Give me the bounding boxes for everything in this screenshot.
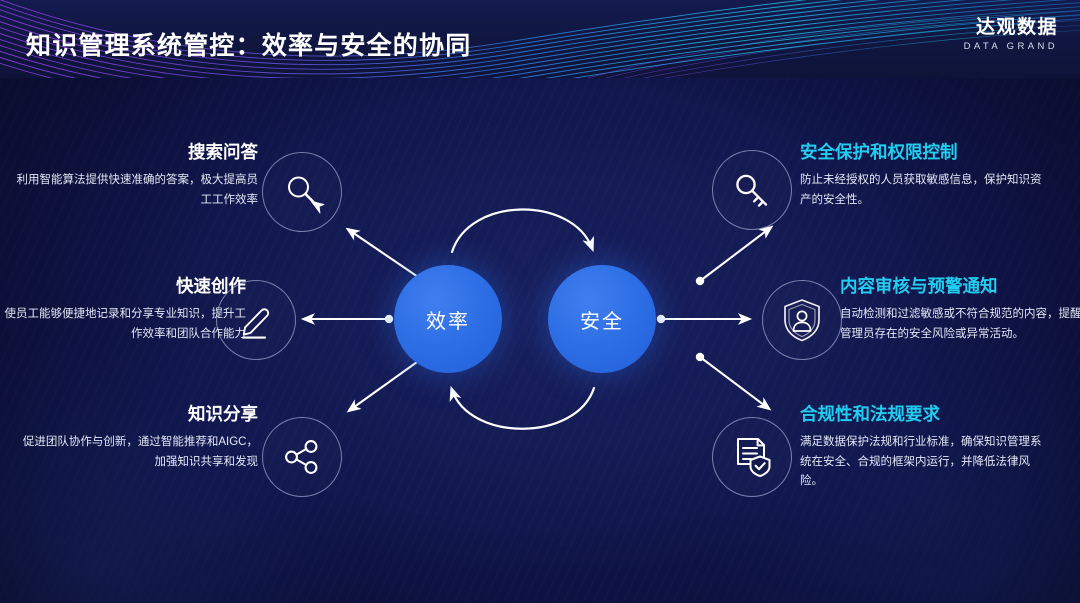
document-check-icon: [730, 434, 774, 480]
feature-protect: 安全保护和权限控制 防止未经授权的人员获取敏感信息，保护知识资产的安全性。: [800, 142, 1046, 210]
spoke-dot-protect: [696, 277, 704, 285]
icon-bubble-comply[interactable]: [712, 417, 792, 497]
feature-title-search: 搜索问答: [12, 142, 258, 164]
logo-text-en: DATA GRAND: [964, 41, 1058, 52]
feature-title-share: 知识分享: [12, 404, 258, 426]
feature-desc-create: 使员工能够便捷地记录和分享专业知识，提升工作效率和团队合作能力: [0, 305, 246, 345]
feature-create: 快速创作 使员工能够便捷地记录和分享专业知识，提升工作效率和团队合作能力: [0, 276, 246, 344]
icon-bubble-share[interactable]: [262, 417, 342, 497]
feature-search: 搜索问答 利用智能算法提供快速准确的答案，极大提高员工工作效率: [12, 142, 258, 210]
spoke-dot-comply: [696, 353, 704, 361]
icon-bubble-search[interactable]: [262, 152, 342, 232]
feature-desc-search: 利用智能算法提供快速准确的答案，极大提高员工工作效率: [12, 171, 258, 211]
feature-title-protect: 安全保护和权限控制: [800, 142, 1046, 164]
feature-title-create: 快速创作: [0, 276, 246, 298]
feature-desc-comply: 满足数据保护法规和行业标准，确保知识管理系统在安全、合规的框架内运行，并降低法律…: [800, 433, 1046, 492]
feature-title-audit: 内容审核与预警通知: [840, 276, 1080, 298]
page-title: 知识管理系统管控：效率与安全的协同: [26, 26, 471, 62]
brand-logo: 达观数据 DATA GRAND: [964, 18, 1058, 52]
feature-share: 知识分享 促进团队协作与创新，通过智能推荐和AIGC，加强知识共享和发现: [12, 404, 258, 472]
feature-audit: 内容审核与预警通知 自动检测和过滤敏感或不符合规范的内容，提醒管理员存在的安全风…: [840, 276, 1080, 344]
core-label-security: 安全: [580, 305, 624, 334]
feature-desc-protect: 防止未经授权的人员获取敏感信息，保护知识资产的安全性。: [800, 171, 1046, 211]
arc-arrow-bottom: [452, 388, 594, 429]
arc-arrow-top: [452, 209, 592, 252]
spoke-dot-create: [385, 315, 393, 323]
search-icon: [278, 168, 326, 216]
spoke-dot-audit: [657, 315, 665, 323]
spoke-share: [350, 357, 424, 410]
share-icon: [280, 435, 324, 479]
header-bar: 知识管理系统管控：效率与安全的协同 达观数据 DATA GRAND: [0, 0, 1080, 78]
feature-title-comply: 合规性和法规要求: [800, 404, 1046, 426]
feature-desc-share: 促进团队协作与创新，通过智能推荐和AIGC，加强知识共享和发现: [12, 433, 258, 473]
icon-bubble-audit[interactable]: [762, 280, 842, 360]
logo-text-cn: 达观数据: [964, 18, 1058, 38]
spoke-search: [349, 230, 424, 281]
spoke-protect: [700, 228, 770, 281]
feature-comply: 合规性和法规要求 满足数据保护法规和行业标准，确保知识管理系统在安全、合规的框架…: [800, 404, 1046, 492]
spoke-comply: [700, 357, 768, 408]
shield-person-icon: [780, 297, 824, 343]
core-node-efficiency[interactable]: 效率: [394, 265, 502, 373]
key-icon: [730, 168, 774, 212]
core-label-efficiency: 效率: [426, 305, 470, 334]
slide-root: 知识管理系统管控：效率与安全的协同 达观数据 DATA GRAND: [0, 0, 1080, 603]
icon-bubble-protect[interactable]: [712, 150, 792, 230]
core-node-security[interactable]: 安全: [548, 265, 656, 373]
feature-desc-audit: 自动检测和过滤敏感或不符合规范的内容，提醒管理员存在的安全风险或异常活动。: [840, 305, 1080, 345]
cursor-pointer-icon: [311, 201, 324, 213]
